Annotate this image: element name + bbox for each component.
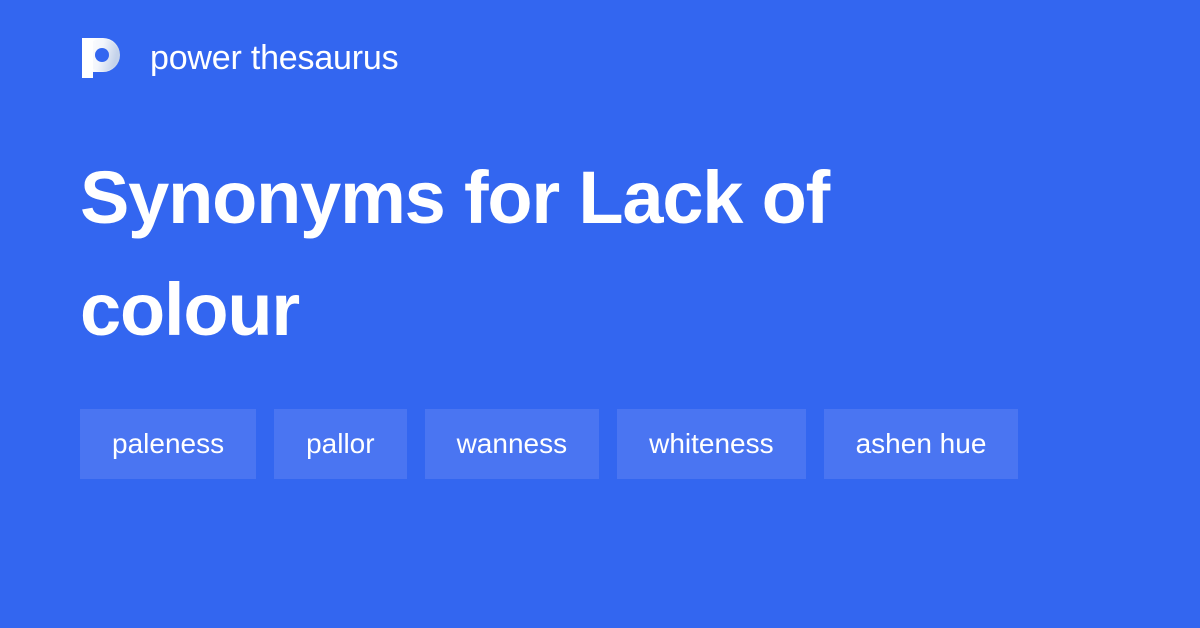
power-thesaurus-b-logo-icon <box>80 34 128 82</box>
synonym-chip[interactable]: pallor <box>274 409 406 479</box>
synonym-chip-list: paleness pallor wanness whiteness ashen … <box>80 367 1080 479</box>
synonym-chip[interactable]: whiteness <box>617 409 806 479</box>
brand-header[interactable]: power thesaurus <box>80 0 1120 86</box>
synonym-chip[interactable]: ashen hue <box>824 409 1019 479</box>
share-card: power thesaurus Synonyms for Lack of col… <box>0 0 1200 628</box>
brand-name: power thesaurus <box>150 41 398 75</box>
synonym-chip[interactable]: paleness <box>80 409 256 479</box>
synonym-chip[interactable]: wanness <box>425 409 600 479</box>
page-title: Synonyms for Lack of colour <box>80 86 980 367</box>
